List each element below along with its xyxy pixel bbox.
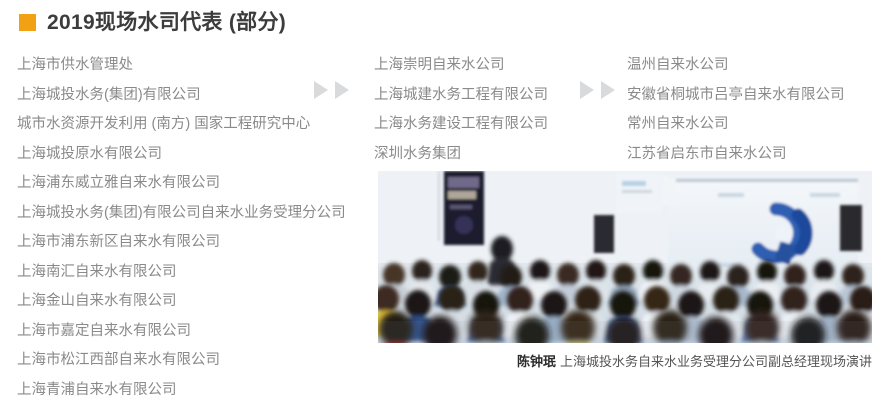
- list-item: 上海城投水务(集团)有限公司自来水业务受理分公司: [17, 199, 346, 229]
- triangle-right-icon: [335, 81, 349, 99]
- list-item: 上海城建水务工程有限公司: [374, 81, 548, 111]
- list-item: 深圳水务集团: [374, 140, 548, 170]
- triangle-right-icon: [580, 81, 594, 99]
- page-title-bar: 2019现场水司代表 (部分): [19, 12, 286, 33]
- company-list-column-2: 上海崇明自来水公司 上海城建水务工程有限公司 上海水务建设工程有限公司 深圳水务…: [374, 51, 548, 169]
- list-item: 上海城投原水有限公司: [17, 140, 346, 170]
- caption-description: 上海城投水务自来水业务受理分公司副总经理现场演讲: [560, 354, 872, 369]
- list-item: 城市水资源开发利用 (南方) 国家工程研究中心: [17, 110, 346, 140]
- list-item: 上海市松江西部自来水有限公司: [17, 346, 346, 376]
- list-item: 安徽省桐城市吕亭自来水有限公司: [627, 81, 845, 111]
- triangle-right-icon: [314, 81, 328, 99]
- column-separator-arrows-2: [580, 81, 615, 99]
- conference-audience-photo: [378, 171, 872, 343]
- photo-caption: 陈钟珉上海城投水务自来水业务受理分公司副总经理现场演讲: [378, 351, 872, 370]
- list-item: 上海水务建设工程有限公司: [374, 110, 548, 140]
- list-item: 上海崇明自来水公司: [374, 51, 548, 81]
- list-item: 上海城投水务(集团)有限公司: [17, 81, 346, 111]
- list-item: 上海市浦东新区自来水有限公司: [17, 228, 346, 258]
- company-list-column-3: 温州自来水公司 安徽省桐城市吕亭自来水有限公司 常州自来水公司 江苏省启东市自来…: [627, 51, 845, 169]
- list-item: 上海青浦自来水有限公司: [17, 376, 346, 406]
- company-list-column-1: 上海市供水管理处 上海城投水务(集团)有限公司 城市水资源开发利用 (南方) 国…: [17, 51, 346, 405]
- column-separator-arrows-1: [314, 81, 349, 99]
- list-item: 上海浦东威立雅自来水有限公司: [17, 169, 346, 199]
- list-item: 上海金山自来水有限公司: [17, 287, 346, 317]
- list-item: 江苏省启东市自来水公司: [627, 140, 845, 170]
- triangle-right-icon: [601, 81, 615, 99]
- square-bullet-icon: [19, 14, 36, 31]
- list-item: 温州自来水公司: [627, 51, 845, 81]
- caption-speaker-name: 陈钟珉: [517, 354, 556, 369]
- list-item: 上海市嘉定自来水有限公司: [17, 317, 346, 347]
- list-item: 上海南汇自来水有限公司: [17, 258, 346, 288]
- list-item: 上海市供水管理处: [17, 51, 346, 81]
- page-title: 2019现场水司代表 (部分): [47, 12, 286, 33]
- list-item: 常州自来水公司: [627, 110, 845, 140]
